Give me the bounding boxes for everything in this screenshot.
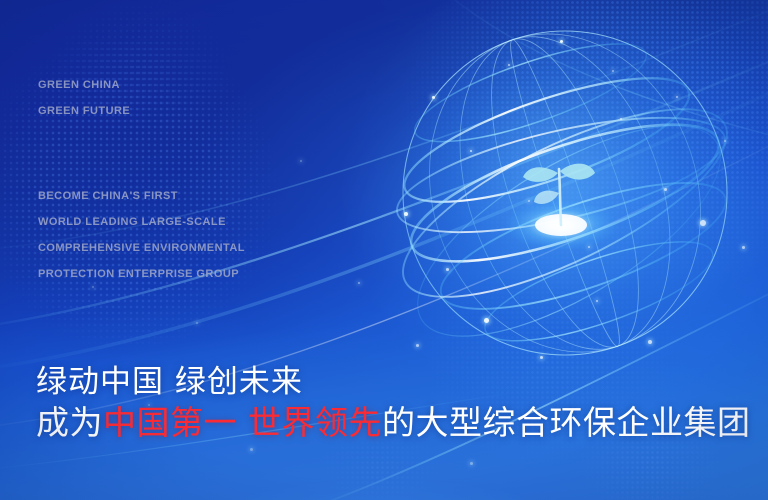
english-mission-block: BECOME CHINA'S FIRST WORLD LEADING LARGE… <box>38 183 245 287</box>
chinese-headline-line-1: 绿动中国 绿创未来 <box>36 362 751 402</box>
mission-line-4: PROTECTION ENTERPRISE GROUP <box>38 261 245 287</box>
headline-highlight: 中国第一 世界领先 <box>103 403 382 442</box>
english-tagline-block: GREEN CHINA GREEN FUTURE <box>38 72 130 124</box>
sprout-seedling <box>523 164 595 225</box>
globe-wireframe-svg <box>385 25 750 375</box>
halftone-dot-texture-topright <box>360 0 768 300</box>
chinese-headline-block: 绿动中国 绿创未来 成为中国第一 世界领先的大型综合环保企业集团 <box>36 362 751 445</box>
tagline-line-2: GREEN FUTURE <box>38 98 130 124</box>
tagline-line-1: GREEN CHINA <box>38 72 130 98</box>
mission-line-1: BECOME CHINA'S FIRST <box>38 183 245 209</box>
mission-line-3: COMPREHENSIVE ENVIRONMENTAL <box>38 235 245 261</box>
headline-prefix: 成为 <box>36 403 103 442</box>
chinese-headline-line-2: 成为中国第一 世界领先的大型综合环保企业集团 <box>36 402 751 445</box>
mission-line-2: WORLD LEADING LARGE-SCALE <box>38 209 245 235</box>
wireframe-globe <box>385 25 750 375</box>
halftone-dot-texture-bottom-center <box>300 440 460 500</box>
hero-banner: GREEN CHINA GREEN FUTURE BECOME CHINA'S … <box>0 0 768 500</box>
headline-suffix: 的大型综合环保企业集团 <box>382 403 751 442</box>
